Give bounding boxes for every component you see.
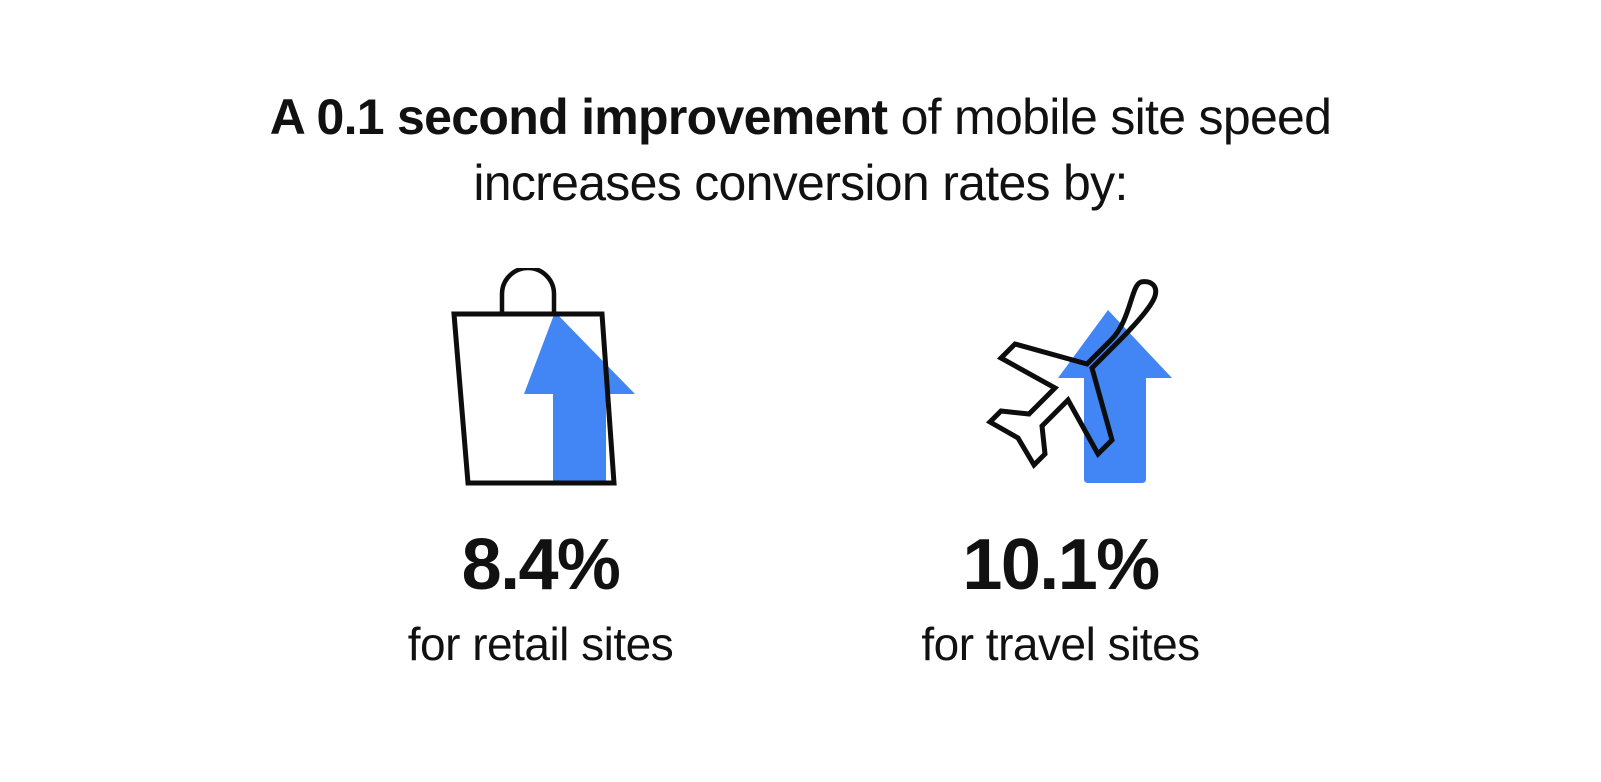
headline-line-2: increases conversion rates by: bbox=[0, 150, 1601, 216]
retail-icon-wrapper bbox=[436, 268, 646, 493]
stat-value-retail: 8.4% bbox=[462, 529, 620, 601]
up-arrow-shape bbox=[524, 312, 635, 483]
headline: A 0.1 second improvement of mobile site … bbox=[0, 84, 1601, 216]
stat-label-retail: for retail sites bbox=[408, 619, 674, 669]
travel-icon-wrapper bbox=[946, 268, 1176, 493]
infographic-root: A 0.1 second improvement of mobile site … bbox=[0, 0, 1601, 782]
stats-row: 8.4% for retail sites 10.1% for travel s… bbox=[0, 268, 1601, 669]
bag-handle bbox=[502, 268, 554, 314]
headline-emphasis: A 0.1 second improvement bbox=[270, 89, 888, 145]
headline-line-1-rest: of mobile site speed bbox=[887, 89, 1331, 145]
stat-block-retail: 8.4% for retail sites bbox=[381, 268, 701, 669]
stat-value-travel: 10.1% bbox=[962, 529, 1158, 601]
stat-block-travel: 10.1% for travel sites bbox=[901, 268, 1221, 669]
stat-label-travel: for travel sites bbox=[921, 619, 1199, 669]
airplane-icon bbox=[946, 268, 1176, 493]
shopping-bag-icon bbox=[436, 268, 646, 493]
headline-line-1: A 0.1 second improvement of mobile site … bbox=[0, 84, 1601, 150]
